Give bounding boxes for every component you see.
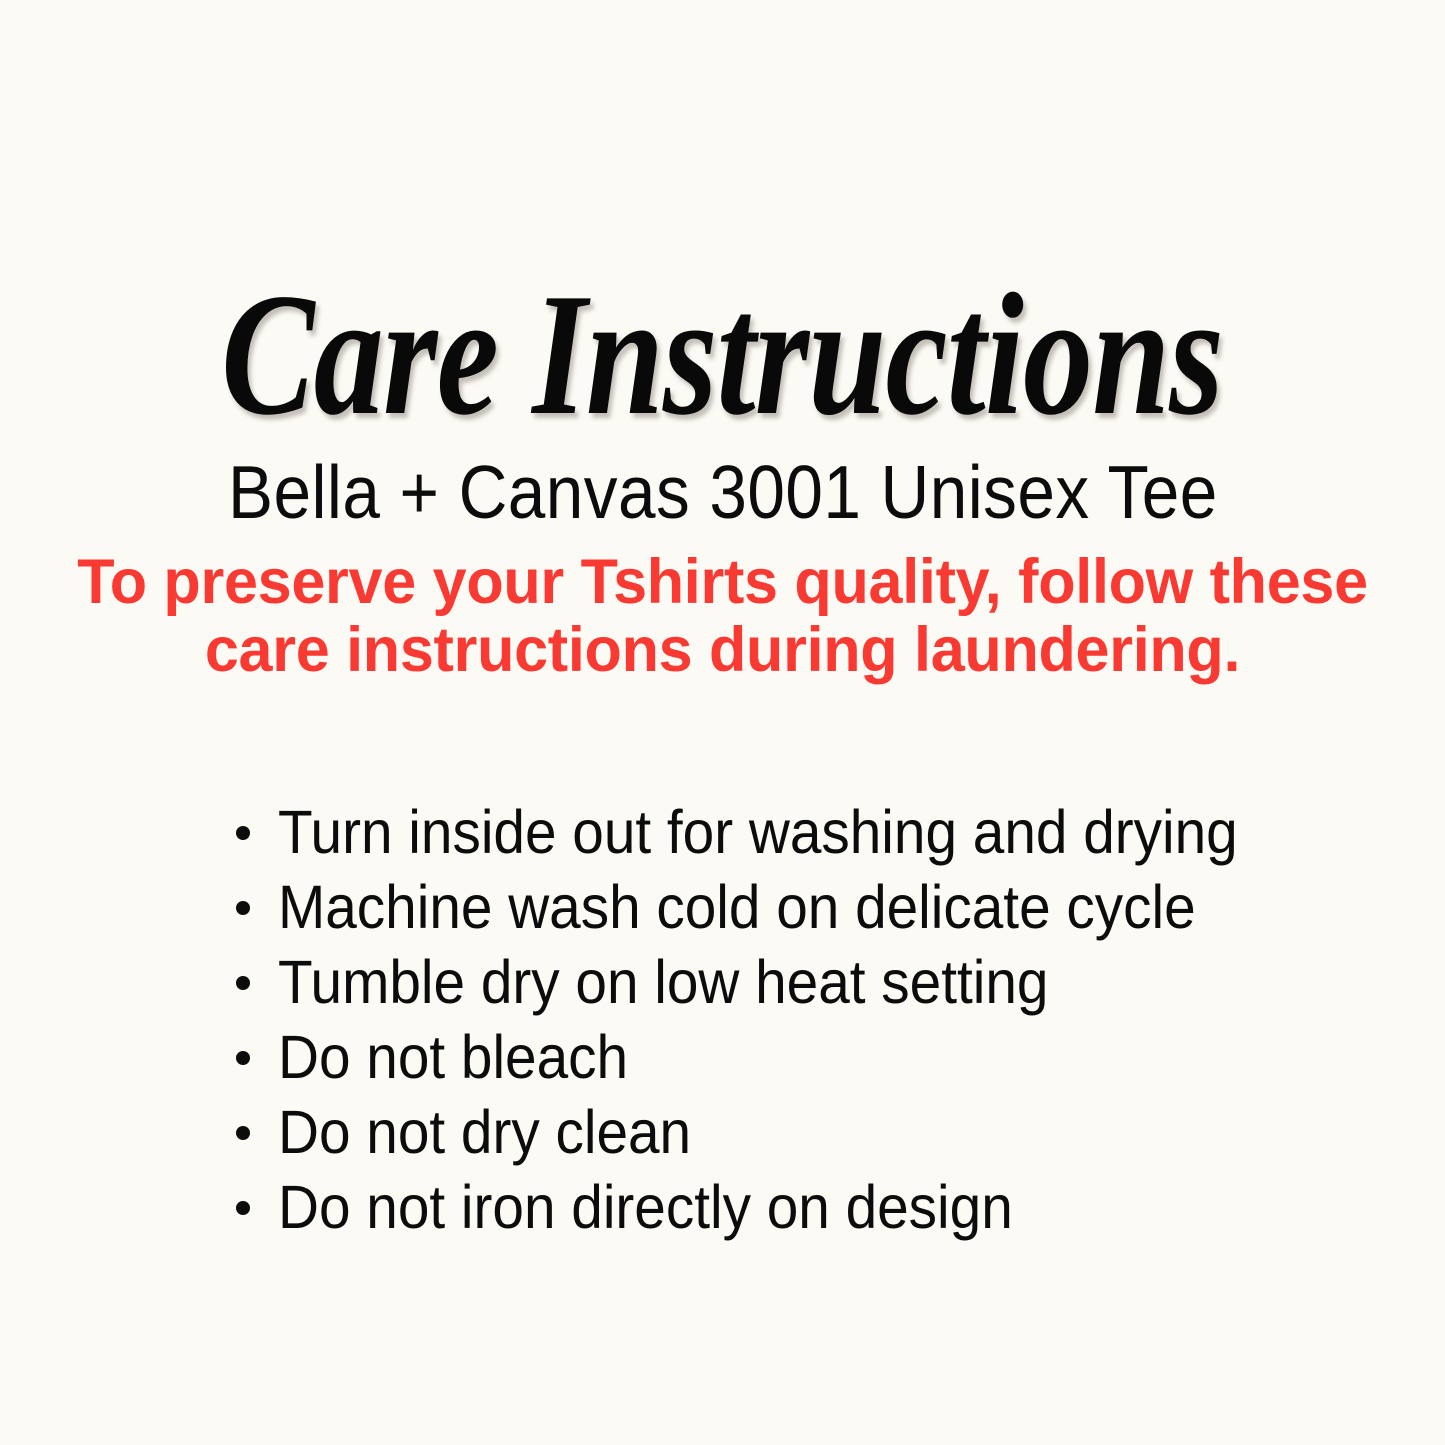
list-item: Do not iron directly on design — [236, 1170, 1336, 1245]
bullet-icon — [236, 901, 250, 915]
care-instructions-list: Turn inside out for washing and drying M… — [236, 795, 1336, 1245]
care-notice: To preserve your Tshirts quality, follow… — [0, 548, 1445, 684]
care-instructions-card: Care Instructions Bella + Canvas 3001 Un… — [0, 0, 1445, 1445]
product-subtitle: Bella + Canvas 3001 Unisex Tee — [228, 455, 1218, 530]
list-item-label: Tumble dry on low heat setting — [278, 945, 1048, 1020]
list-item-label: Machine wash cold on delicate cycle — [278, 870, 1196, 945]
care-notice-line-2: care instructions during laundering. — [22, 616, 1424, 684]
care-notice-line-1: To preserve your Tshirts quality, follow… — [22, 548, 1424, 616]
bullet-icon — [236, 1126, 250, 1140]
list-item: Tumble dry on low heat setting — [236, 945, 1336, 1020]
list-item-label: Do not dry clean — [278, 1095, 691, 1170]
list-item: Do not dry clean — [236, 1095, 1336, 1170]
list-item: Do not bleach — [236, 1020, 1336, 1095]
bullet-icon — [236, 976, 250, 990]
bullet-icon — [236, 1201, 250, 1215]
list-item-label: Do not bleach — [278, 1020, 628, 1095]
bullet-icon — [236, 1051, 250, 1065]
list-item: Turn inside out for washing and drying — [236, 795, 1336, 870]
list-item: Machine wash cold on delicate cycle — [236, 870, 1336, 945]
list-item-label: Do not iron directly on design — [278, 1170, 1013, 1245]
list-item-label: Turn inside out for washing and drying — [278, 795, 1238, 870]
bullet-icon — [236, 826, 250, 840]
